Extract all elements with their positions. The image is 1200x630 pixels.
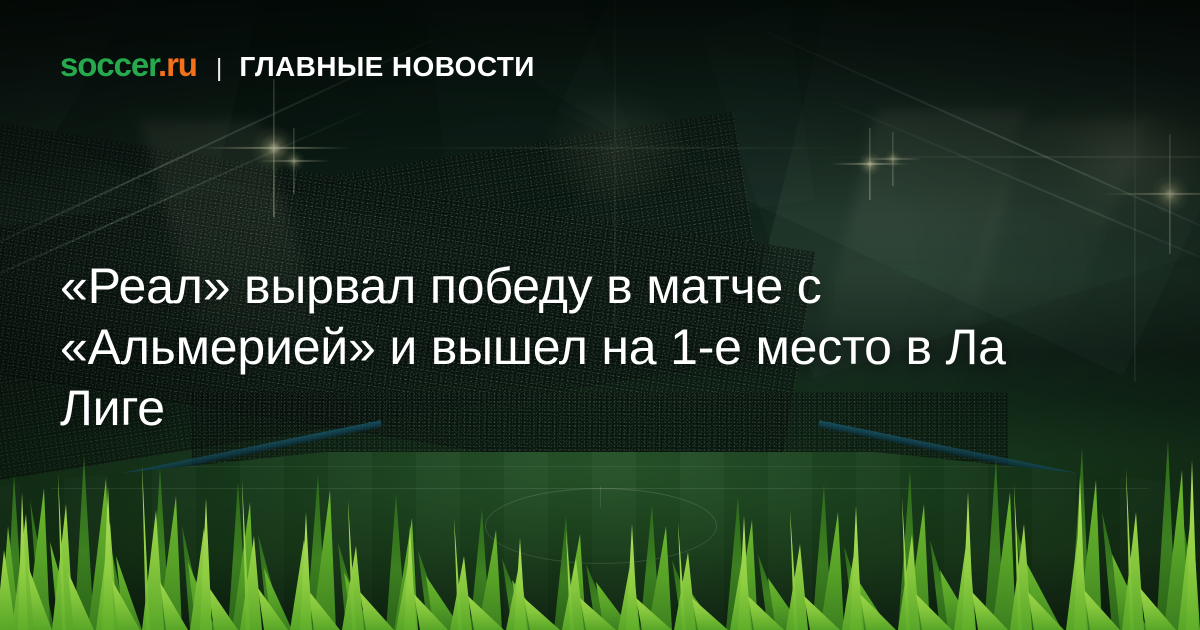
site-logo[interactable]: soccer.ru bbox=[60, 48, 197, 81]
card-header: soccer.ru | ГЛАВНЫЕ НОВОСТИ bbox=[60, 48, 535, 81]
floodlight-star-icon bbox=[884, 150, 902, 168]
roof-facet bbox=[409, 0, 815, 250]
foreground-grass bbox=[0, 430, 1200, 630]
header-kicker: ГЛАВНЫЕ НОВОСТИ bbox=[239, 53, 534, 81]
share-card: soccer.ru | ГЛАВНЫЕ НОВОСТИ «Реал» вырва… bbox=[0, 0, 1200, 630]
floodlight-star-icon bbox=[283, 150, 305, 172]
logo-text-suffix: .ru bbox=[158, 46, 197, 83]
floodlight-star-icon bbox=[858, 152, 882, 176]
floodlight-glow-icon bbox=[1035, 82, 1200, 232]
floodlight-star-icon bbox=[1150, 174, 1190, 214]
header-separator: | bbox=[216, 56, 223, 81]
logo-text-primary: soccer bbox=[60, 46, 158, 83]
floodlight-glow-icon bbox=[540, 88, 690, 208]
floodlight-star-icon bbox=[251, 125, 297, 171]
article-headline: «Реал» вырвал победу в матче с «Альмерие… bbox=[60, 256, 1050, 439]
roof-truss bbox=[766, 31, 1200, 248]
